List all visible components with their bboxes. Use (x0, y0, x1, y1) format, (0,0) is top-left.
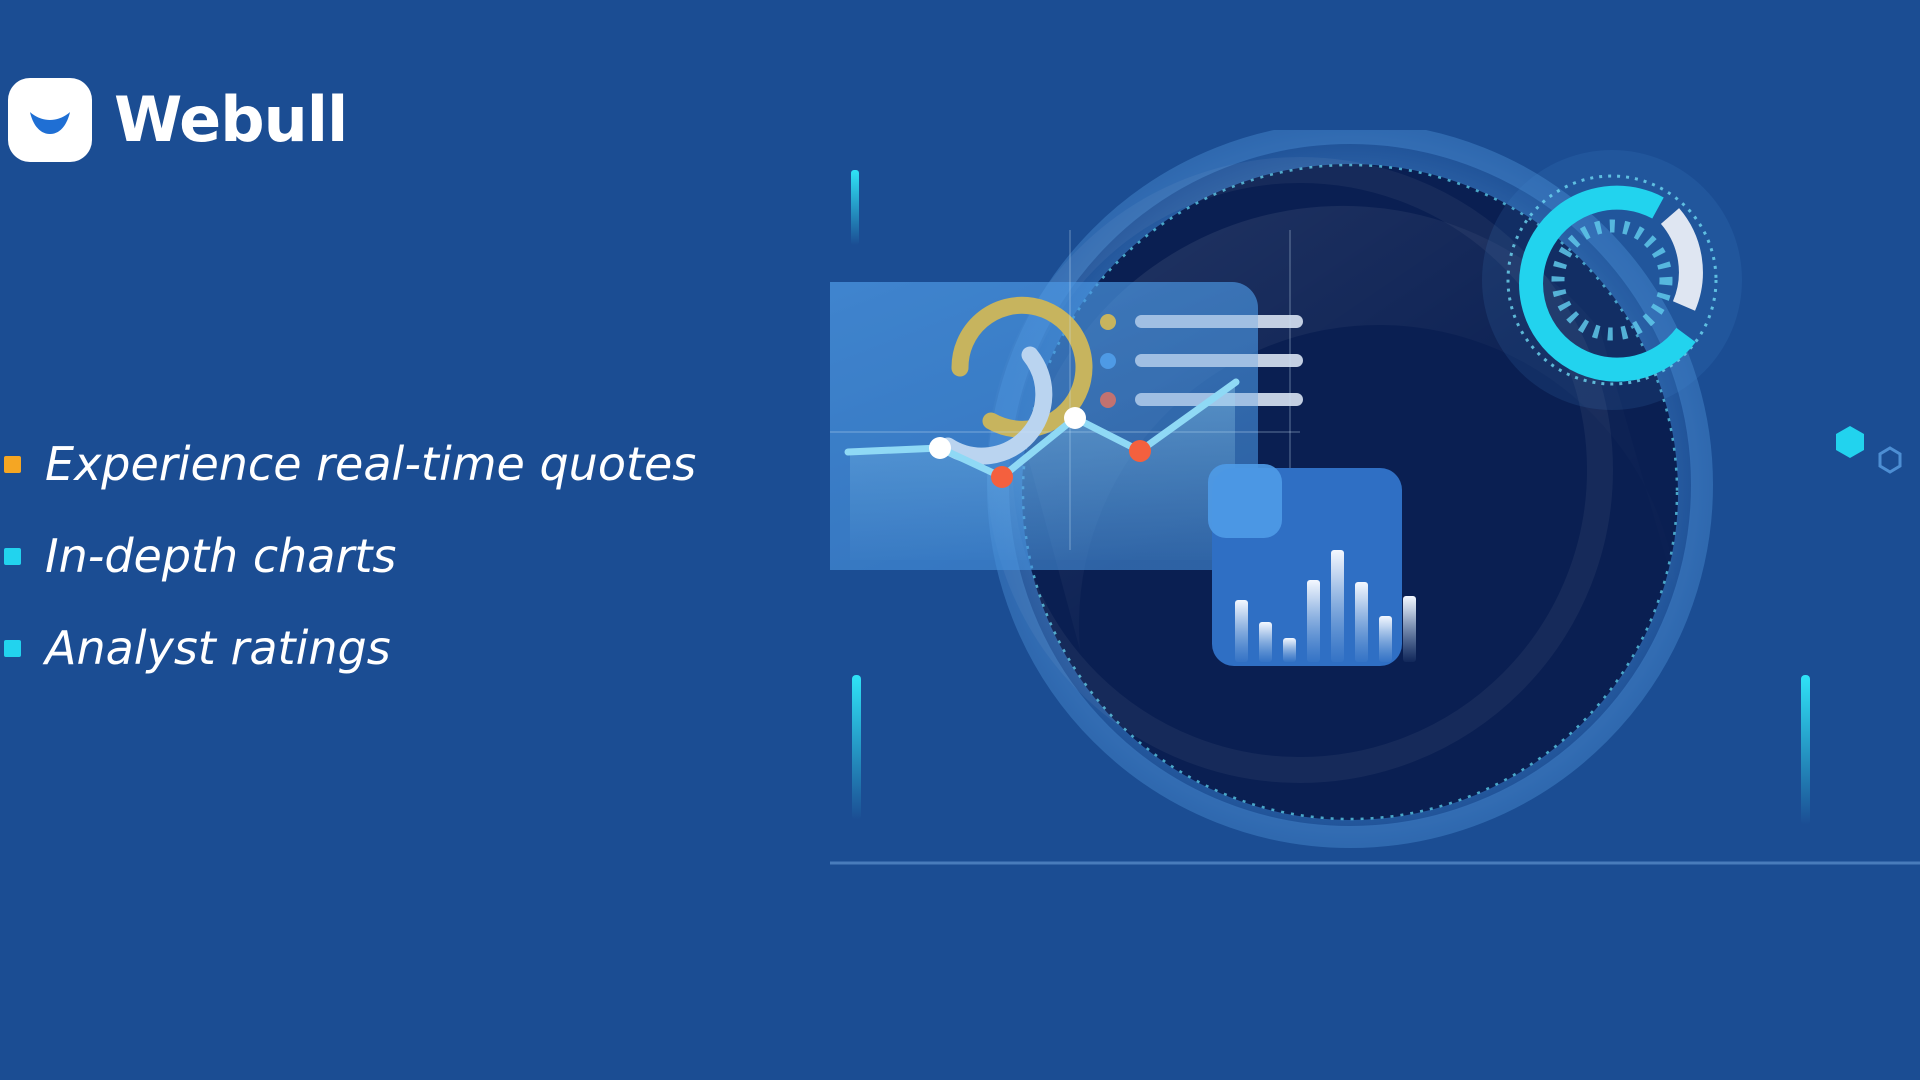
brand-lockup: Webull (8, 78, 347, 162)
hexagon-outline-icon (1880, 448, 1900, 472)
webull-logo-icon (8, 78, 92, 162)
brand-name: Webull (114, 89, 347, 151)
accent-square (1208, 464, 1282, 538)
feature-list: Experience real-time quotes In-depth cha… (4, 418, 804, 694)
volume-bar-1 (1235, 600, 1248, 662)
promo-banner: Webull Experience real-time quotes In-de… (0, 0, 1920, 1080)
hexagon-filled-icon (1836, 426, 1864, 458)
volume-bar-8 (1403, 596, 1416, 662)
feature-label-1: Experience real-time quotes (45, 437, 696, 491)
trading-dashboard-illustration (830, 130, 1920, 920)
volume-bar-4 (1307, 580, 1320, 662)
feature-label-3: Analyst ratings (45, 621, 391, 675)
line-marker-3 (1064, 407, 1086, 429)
volume-bar-3 (1283, 638, 1296, 662)
volume-bar-7 (1379, 616, 1392, 662)
volume-bar-6 (1355, 582, 1368, 662)
volume-card (1208, 464, 1416, 666)
progress-ring (1482, 150, 1742, 410)
bullet-square-icon-2 (4, 548, 21, 565)
feature-item-1: Experience real-time quotes (4, 418, 804, 510)
line-marker-4 (1129, 440, 1151, 462)
bullet-square-icon-3 (4, 640, 21, 657)
feature-item-2: In-depth charts (4, 510, 804, 602)
tick-mark-top (851, 170, 859, 245)
volume-bar-5 (1331, 550, 1344, 662)
tick-mark-right (1801, 675, 1810, 825)
line-marker-1 (929, 437, 951, 459)
volume-bar-2 (1259, 622, 1272, 662)
hexagon-accents (1836, 426, 1900, 472)
bullet-square-icon-1 (4, 456, 21, 473)
line-marker-2 (991, 466, 1013, 488)
tick-mark-left-tall (852, 675, 861, 820)
feature-label-2: In-depth charts (45, 529, 396, 583)
feature-item-3: Analyst ratings (4, 602, 804, 694)
